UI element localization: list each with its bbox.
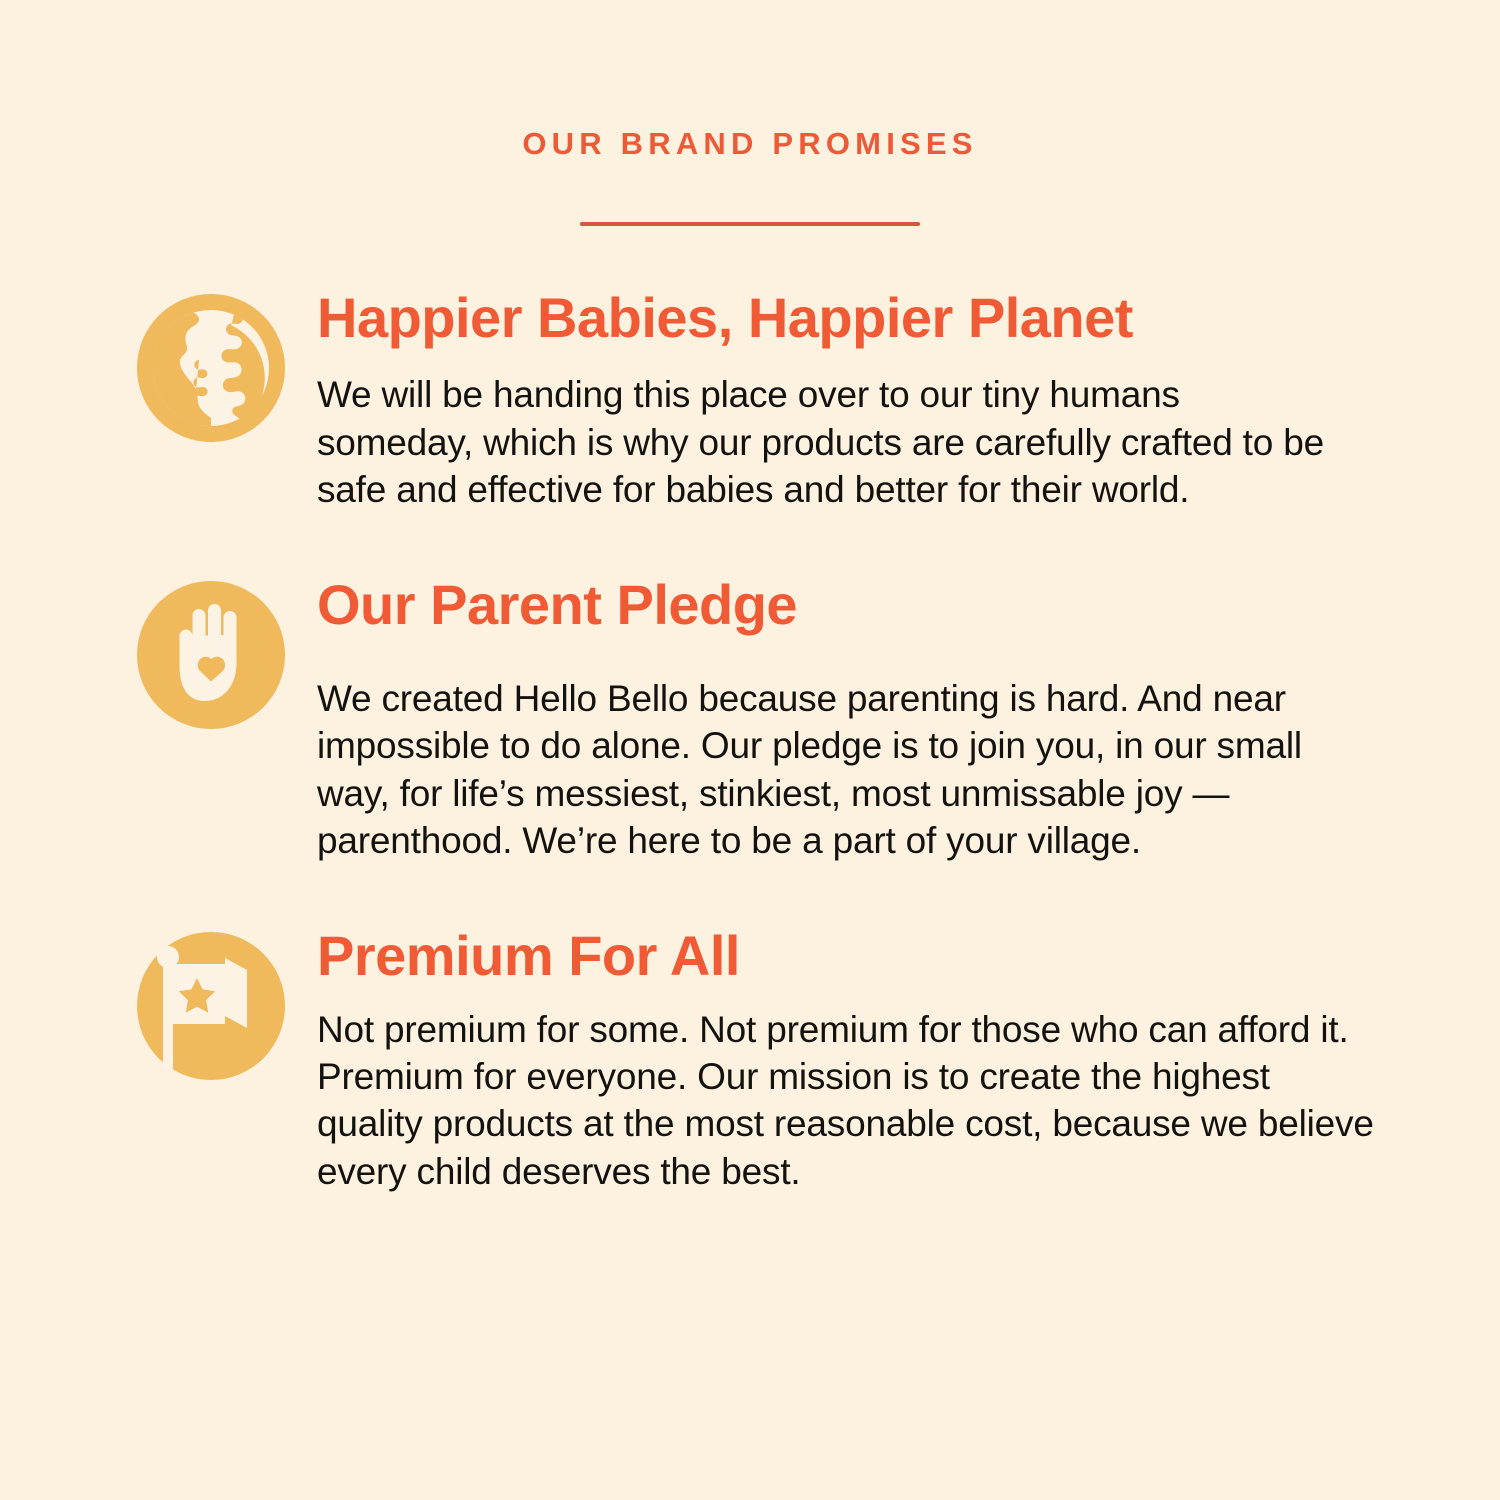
page-header: OUR BRAND PROMISES xyxy=(0,0,1500,226)
divider-container xyxy=(0,222,1500,226)
promise-text-container: Our Parent Pledge We created Hello Bello… xyxy=(290,575,1380,864)
promise-icon-container xyxy=(135,575,290,731)
promise-title: Premium For All xyxy=(317,926,1380,985)
promise-item: Premium For All Not premium for some. No… xyxy=(135,926,1380,1195)
promise-title: Our Parent Pledge xyxy=(317,575,1380,634)
promise-item: Our Parent Pledge We created Hello Bello… xyxy=(135,575,1380,864)
promise-title: Happier Babies, Happier Planet xyxy=(317,288,1380,347)
horizontal-rule xyxy=(580,222,920,226)
brand-promises-page: OUR BRAND PROMISES xyxy=(0,0,1500,1500)
promise-body: We will be handing this place over to ou… xyxy=(317,371,1327,513)
globe-icon xyxy=(135,292,287,444)
promises-list: Happier Babies, Happier Planet We will b… xyxy=(0,288,1500,1195)
promise-text-container: Premium For All Not premium for some. No… xyxy=(290,926,1380,1195)
page-title: OUR BRAND PROMISES xyxy=(0,128,1500,159)
promise-icon-container xyxy=(135,926,290,1082)
promise-body: We created Hello Bello because parenting… xyxy=(317,675,1380,864)
promise-item: Happier Babies, Happier Planet We will b… xyxy=(135,288,1380,513)
flag-star-icon xyxy=(135,930,287,1082)
hand-heart-icon xyxy=(135,579,287,731)
promise-body: Not premium for some. Not premium for th… xyxy=(317,1006,1380,1195)
promise-icon-container xyxy=(135,288,290,444)
promise-text-container: Happier Babies, Happier Planet We will b… xyxy=(290,288,1380,513)
